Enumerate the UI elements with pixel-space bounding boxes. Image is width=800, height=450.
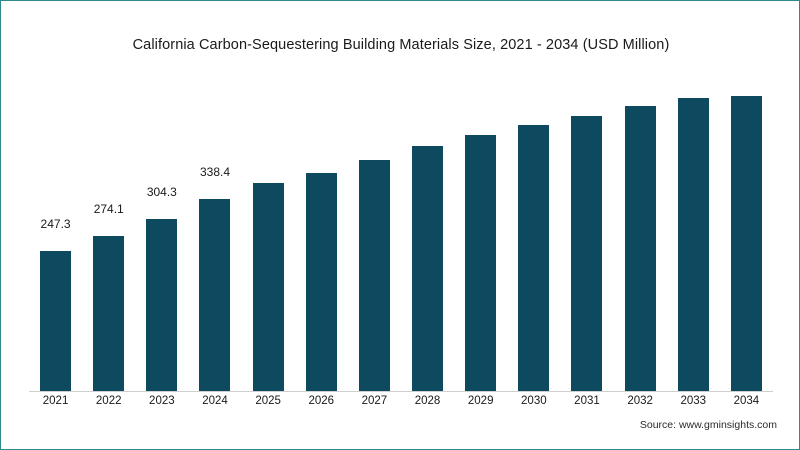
bar-2030[interactable] (518, 125, 549, 391)
bar-slot (720, 96, 773, 391)
x-tick-2031: 2031 (560, 395, 613, 407)
bar-slot (614, 96, 667, 391)
bar-value-label: 304.3 (147, 185, 177, 199)
bar-value-label: 338.4 (200, 165, 230, 179)
bar-2033[interactable] (678, 98, 709, 391)
x-tick-2022: 2022 (82, 395, 135, 407)
x-tick-2025: 2025 (242, 395, 295, 407)
bar-slot (401, 96, 454, 391)
chart-title: California Carbon-Sequestering Building … (1, 37, 800, 53)
x-tick-2027: 2027 (348, 395, 401, 407)
bar-slot: 274.1 (82, 96, 135, 391)
bar-2024[interactable] (199, 199, 230, 391)
x-tick-2021: 2021 (29, 395, 82, 407)
x-tick-2029: 2029 (454, 395, 507, 407)
bar-value-label: 247.3 (41, 217, 71, 231)
bar-2027[interactable] (359, 160, 390, 391)
x-axis-tick-labels: 2021 2022 2023 2024 2025 2026 2027 2028 … (29, 395, 773, 407)
bar-2029[interactable] (465, 135, 496, 391)
bar-value-label: 274.1 (94, 202, 124, 216)
x-tick-2030: 2030 (507, 395, 560, 407)
bar-slot: 304.3 (135, 96, 188, 391)
x-tick-2023: 2023 (135, 395, 188, 407)
chart-page: California Carbon-Sequestering Building … (0, 0, 800, 450)
bar-2028[interactable] (412, 146, 443, 391)
bar-2032[interactable] (625, 106, 656, 391)
x-tick-2033: 2033 (667, 395, 720, 407)
bar-2026[interactable] (306, 173, 337, 391)
x-tick-2024: 2024 (188, 395, 241, 407)
bar-slot: 338.4 (188, 96, 241, 391)
bar-2025[interactable] (253, 183, 284, 391)
bar-2021[interactable] (40, 251, 71, 391)
source-credit: Source: www.gminsights.com (640, 419, 777, 431)
bar-2022[interactable] (93, 236, 124, 391)
bar-slot (348, 96, 401, 391)
x-tick-2034: 2034 (720, 395, 773, 407)
bar-slot (242, 96, 295, 391)
bar-slot (667, 96, 720, 391)
x-axis-line (29, 391, 773, 392)
bar-series: 247.3 274.1 304.3 338.4 (29, 96, 773, 391)
bar-slot (507, 96, 560, 391)
bar-slot (295, 96, 348, 391)
bar-slot (454, 96, 507, 391)
bar-2034[interactable] (731, 96, 762, 391)
x-tick-2032: 2032 (614, 395, 667, 407)
plot-area: 247.3 274.1 304.3 338.4 (29, 96, 773, 391)
bar-2023[interactable] (146, 219, 177, 391)
x-tick-2028: 2028 (401, 395, 454, 407)
bar-slot (560, 96, 613, 391)
x-tick-2026: 2026 (295, 395, 348, 407)
bar-slot: 247.3 (29, 96, 82, 391)
bar-2031[interactable] (571, 116, 602, 391)
